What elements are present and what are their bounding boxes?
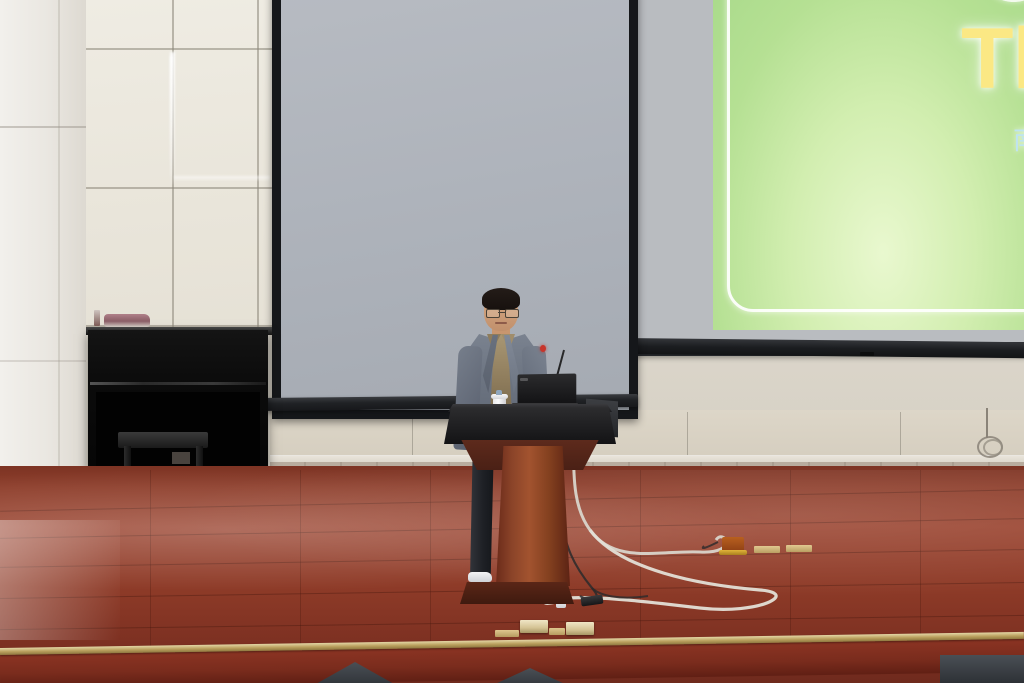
lectern-top <box>444 408 616 444</box>
eyeglasses-icon <box>486 309 517 316</box>
lectern-column <box>496 446 570 586</box>
photo-scene: Than 南 <box>0 0 1024 683</box>
front-projection-screen <box>272 0 638 419</box>
microphone-tip <box>540 345 546 352</box>
piano-fallboard-seam <box>90 382 266 385</box>
floor-outlet-box-left <box>520 620 548 633</box>
rear-projection-screen: Than 南 <box>613 0 1024 356</box>
presenter-hair <box>482 288 520 310</box>
hanging-cable <box>986 408 988 438</box>
drinking-glass <box>94 310 100 326</box>
slide-title: Than <box>961 16 1024 102</box>
rear-screen-rail-nub <box>860 352 874 356</box>
presentation-slide: Than 南 <box>713 0 1024 330</box>
slide-subtitle: 南 <box>1013 120 1024 157</box>
folded-cloth <box>104 314 150 327</box>
front-screen-surface <box>281 0 629 410</box>
lectern-base <box>460 582 574 604</box>
floor-outlet-box-right <box>566 622 594 635</box>
presenter-shoe <box>468 572 492 582</box>
chair-back <box>940 655 1024 683</box>
